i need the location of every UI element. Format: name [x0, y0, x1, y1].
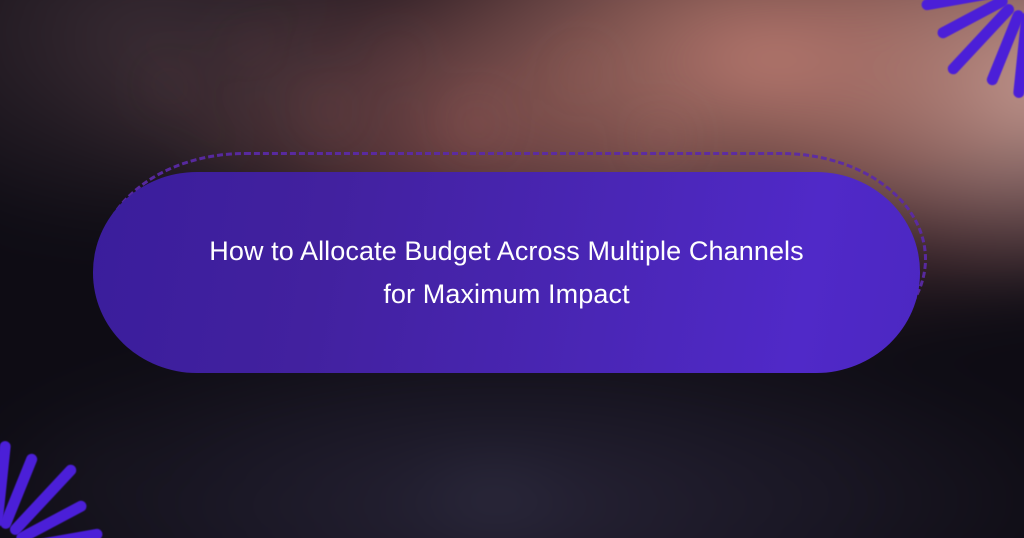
- banner-canvas: How to Allocate Budget Across Multiple C…: [0, 0, 1024, 538]
- sparkle-burst-bottom-left-icon: [0, 402, 144, 538]
- headline-card: How to Allocate Budget Across Multiple C…: [93, 172, 920, 373]
- page-title: How to Allocate Budget Across Multiple C…: [177, 230, 837, 315]
- sparkle-burst-top-right-icon: [880, 0, 1024, 136]
